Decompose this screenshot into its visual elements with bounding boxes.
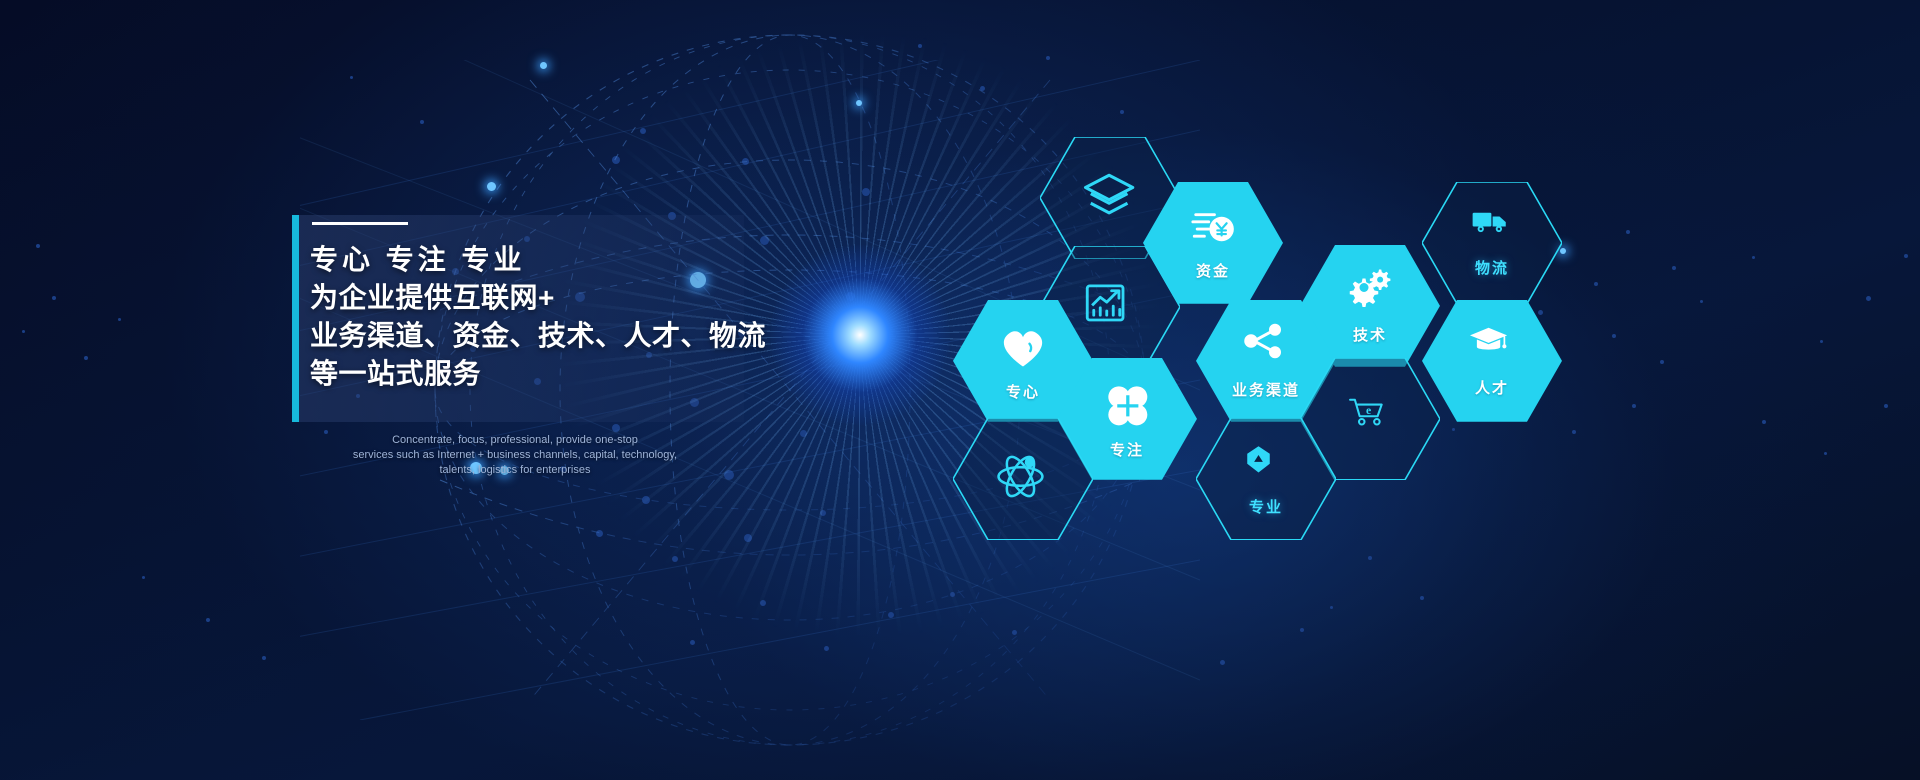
diamond-icon: [1246, 442, 1286, 488]
graduation-cap-icon: [1465, 325, 1519, 369]
hexagon-label: 业务渠道: [1232, 379, 1300, 400]
hexagon-content: 人才: [1465, 325, 1519, 398]
hexagon-content: 专业: [1246, 442, 1286, 517]
hexagon-content: 物流: [1464, 209, 1520, 278]
hexagon-content: 技术: [1344, 268, 1396, 345]
hexagon-label: 技术: [1353, 324, 1387, 345]
share-nodes-icon: [1240, 323, 1292, 371]
atom-icon: [994, 452, 1052, 506]
hexagon-content: [1079, 170, 1141, 226]
hexagon-cluster: 资金物流技术业务渠道人才专心专注e专业: [0, 0, 1920, 780]
gears-icon: [1344, 268, 1396, 316]
hexagon-content: e: [1342, 397, 1398, 441]
cart-e-icon: e: [1342, 397, 1398, 441]
layers-icon: [1079, 170, 1141, 226]
hexagon-talents[interactable]: 人才: [1422, 300, 1562, 422]
hexagon-content: 专心: [995, 321, 1051, 402]
hero-banner: 专心 专注 专业 为企业提供互联网+ 业务渠道、资金、技术、人才、物流 等一站式…: [0, 0, 1920, 780]
hexagon-label: 专注: [1110, 439, 1144, 460]
hexagon-label: 资金: [1196, 260, 1230, 281]
hexagon-capital[interactable]: 资金: [1143, 182, 1283, 304]
hexagon-label: 专心: [1006, 381, 1040, 402]
heart-icon: [995, 321, 1051, 373]
clover-icon: [1101, 379, 1153, 431]
hexagon-label: 人才: [1475, 377, 1509, 398]
hexagon-label: 物流: [1475, 257, 1509, 278]
hexagon-logistics[interactable]: 物流: [1422, 182, 1562, 304]
hexagon-content: 业务渠道: [1232, 323, 1300, 400]
hexagon-atom[interactable]: [953, 418, 1093, 540]
yuan-coin-icon: [1185, 206, 1241, 252]
hexagon-content: 资金: [1185, 206, 1241, 281]
svg-text:e: e: [1366, 404, 1371, 417]
truck-icon: [1464, 209, 1520, 249]
hexagon-label: 专业: [1249, 496, 1283, 517]
hexagon-professional[interactable]: 专业: [1196, 418, 1336, 540]
hexagon-content: 专注: [1101, 379, 1153, 460]
hexagon-content: [994, 452, 1052, 506]
